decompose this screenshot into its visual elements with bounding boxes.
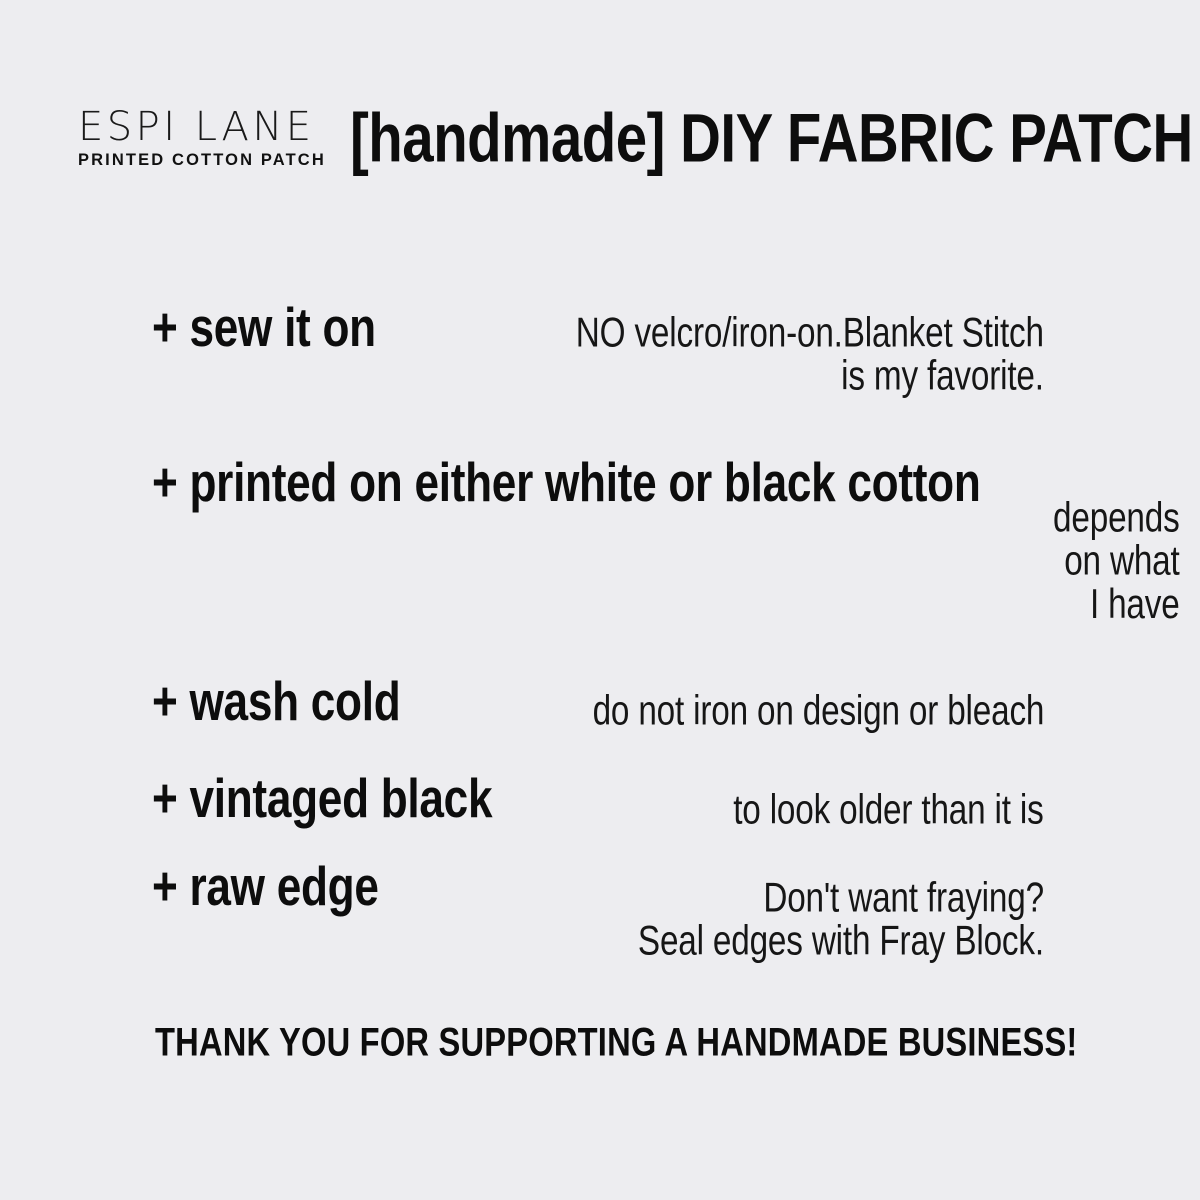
feature-item-printed-cotton: + printed on either white or black cotto… xyxy=(152,455,1044,612)
feature-description: do not iron on design or bleach xyxy=(496,690,1044,733)
feature-list: + sew it on NO velcro/iron-on.Blanket St… xyxy=(152,300,1044,954)
feature-label: + wash cold xyxy=(152,674,400,728)
footer-thank-you-message: THANK YOU FOR SUPPORTING A HANDMADE BUSI… xyxy=(155,1022,1078,1062)
feature-label: + raw edge xyxy=(152,859,379,913)
feature-description: NO velcro/iron-on.Blanket Stitch is my f… xyxy=(473,312,1044,398)
brand-logo: ESPI LANE PRINTED COTTON PATCH xyxy=(78,108,334,175)
feature-label: + vintaged black xyxy=(152,771,492,825)
feature-item-wash-cold: + wash cold do not iron on design or ble… xyxy=(152,674,1044,728)
feature-item-vintaged-black: + vintaged black to look older than it i… xyxy=(152,771,1044,827)
feature-item-raw-edge: + raw edge Don't want fraying? Seal edge… xyxy=(152,859,1044,954)
page-title: [handmade] DIY FABRIC PATCH xyxy=(350,104,1193,175)
header: ESPI LANE PRINTED COTTON PATCH [handmade… xyxy=(78,108,1145,175)
feature-label: + sew it on xyxy=(152,300,376,354)
feature-description: Don't want fraying? Seal edges with Fray… xyxy=(475,877,1044,963)
patch-care-card: ESPI LANE PRINTED COTTON PATCH [handmade… xyxy=(0,0,1200,1200)
feature-item-sew-it-on: + sew it on NO velcro/iron-on.Blanket St… xyxy=(152,300,1044,389)
brand-name: ESPI LANE xyxy=(78,108,334,147)
brand-tagline: PRINTED COTTON PATCH xyxy=(78,151,326,169)
feature-description: to look older than it is xyxy=(582,789,1044,832)
feature-description: depends on what I have xyxy=(1053,497,1180,626)
feature-label: + printed on either white or black cotto… xyxy=(152,455,981,509)
